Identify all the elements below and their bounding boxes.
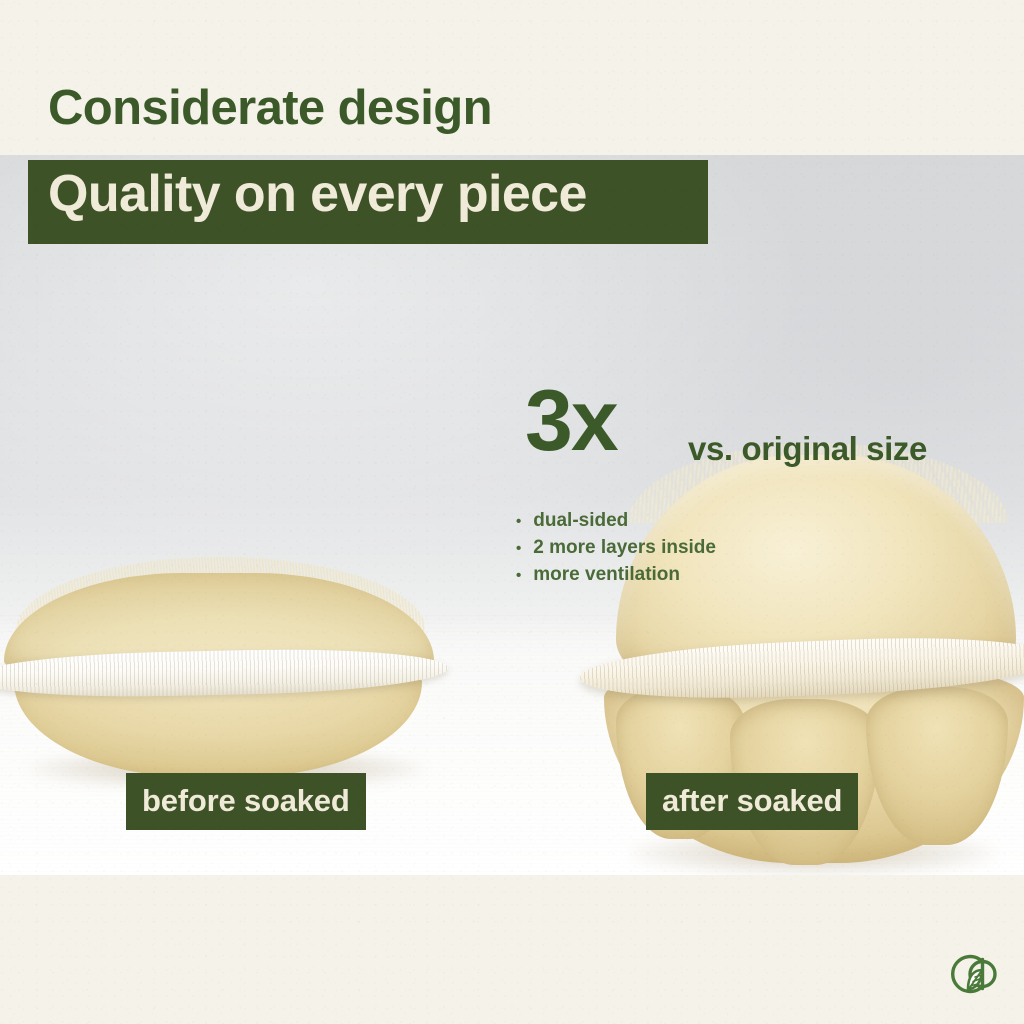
caption-before-soaked: before soaked <box>126 773 366 830</box>
bullet-icon: • <box>516 568 521 583</box>
caption-after-soaked: after soaked <box>646 773 858 830</box>
product-infographic-page: Considerate design Quality on every piec… <box>0 0 1024 1024</box>
brand-logo-icon <box>944 946 1000 1002</box>
feature-label: more ventilation <box>533 562 680 589</box>
feature-list: • dual-sided • 2 more layers inside • mo… <box>516 508 716 589</box>
feature-label: dual-sided <box>533 508 628 535</box>
headline-primary: Considerate design <box>48 84 492 133</box>
loofah-before-soaked <box>0 573 456 773</box>
product-comparison-photo <box>0 155 1024 875</box>
list-item: • dual-sided <box>516 508 716 535</box>
bullet-icon: • <box>516 541 521 556</box>
list-item: • more ventilation <box>516 562 716 589</box>
expansion-subtitle: vs. original size <box>688 432 927 465</box>
bullet-icon: • <box>516 514 521 529</box>
feature-label: 2 more layers inside <box>533 535 716 562</box>
list-item: • 2 more layers inside <box>516 535 716 562</box>
expansion-multiplier: 3x <box>525 378 617 464</box>
headline-secondary: Quality on every piece <box>48 168 587 220</box>
